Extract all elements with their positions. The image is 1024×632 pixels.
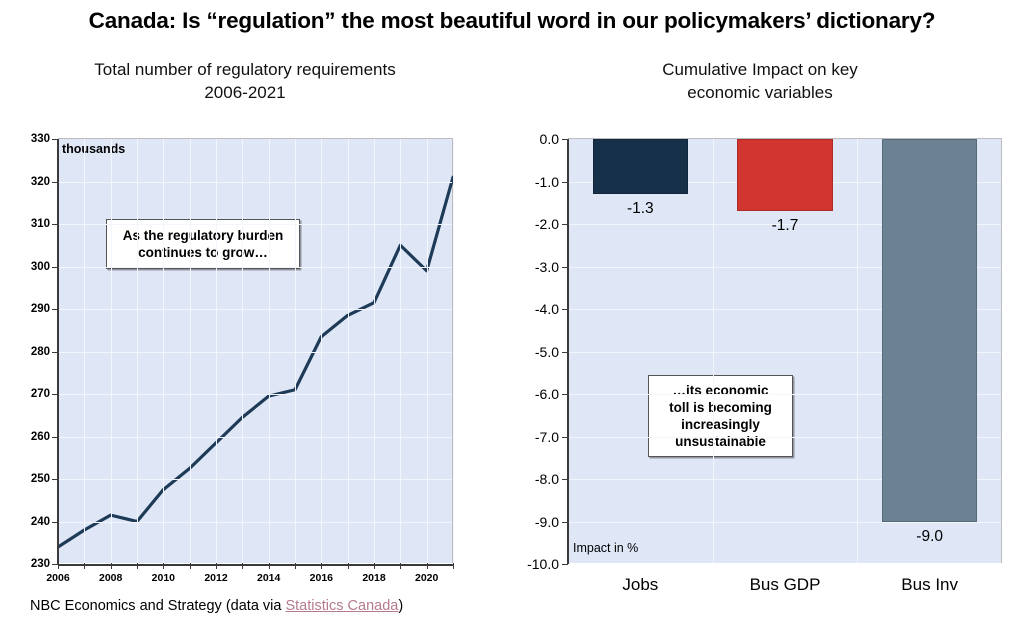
gridline-vertical — [84, 139, 85, 563]
y-axis-tick — [562, 564, 568, 565]
y-axis-tick-label: -3.0 — [535, 259, 559, 275]
y-axis-tick-label: 310 — [31, 218, 50, 230]
gridline-horizontal — [58, 309, 452, 310]
y-axis-tick-label: -1.0 — [535, 174, 559, 190]
y-axis-tick-label: 270 — [31, 388, 50, 400]
gridline-horizontal — [58, 437, 452, 438]
y-axis-tick-label: -2.0 — [535, 216, 559, 232]
bar-bus-inv[interactable] — [882, 139, 977, 522]
bar-jobs[interactable] — [593, 139, 688, 194]
y-axis-tick-label: 240 — [31, 516, 50, 528]
gridline-horizontal — [58, 352, 452, 353]
gridline-horizontal — [58, 522, 452, 523]
y-axis-tick-label: 260 — [31, 431, 50, 443]
gridline-vertical — [427, 139, 428, 563]
y-axis-tick-label: 0.0 — [540, 131, 559, 147]
x-axis-tick-label: 2018 — [362, 572, 385, 584]
category-label-bus-gdp: Bus GDP — [750, 575, 821, 595]
category-label-jobs: Jobs — [622, 575, 658, 595]
gridline-vertical — [269, 139, 270, 563]
y-axis-tick-label: 300 — [31, 261, 50, 273]
y-axis-tick-label: 230 — [31, 558, 50, 570]
gridline-horizontal — [58, 224, 452, 225]
gridline-horizontal — [58, 479, 452, 480]
gridline-vertical — [111, 139, 112, 563]
gridline-horizontal — [568, 522, 1001, 523]
right-chart-title: Cumulative Impact on key economic variab… — [500, 58, 1020, 104]
gridline-vertical — [857, 139, 858, 563]
footer-suffix: ) — [398, 598, 403, 614]
right-chart-panel: Cumulative Impact on key economic variab… — [500, 58, 1020, 104]
x-axis-tick-label: 2010 — [152, 572, 175, 584]
footer-prefix: NBC Economics and Strategy (data via — [30, 598, 285, 614]
gridline-vertical — [374, 139, 375, 563]
gridline-vertical — [453, 139, 454, 563]
left-callout-box: As the regulatory burden continues to gr… — [106, 219, 300, 269]
gridline-vertical — [713, 139, 714, 563]
line-chart-plot-area: thousands As the regulatory burden conti… — [58, 138, 453, 563]
y-axis-tick-label: -5.0 — [535, 344, 559, 360]
y-axis-tick-label: 250 — [31, 473, 50, 485]
bar-bus-gdp[interactable] — [737, 139, 832, 211]
y-axis-line — [567, 139, 569, 564]
source-footer: NBC Economics and Strategy (data via Sta… — [30, 598, 403, 614]
y-axis-tick-label: 280 — [31, 346, 50, 358]
bar-value-label: -9.0 — [916, 528, 943, 546]
y-axis-tick-label: 320 — [31, 176, 50, 188]
left-chart-panel: Total number of regulatory requirements … — [10, 58, 480, 104]
y-axis-tick-label: 330 — [31, 133, 50, 145]
y-axis-tick-label: -6.0 — [535, 386, 559, 402]
y-axis-tick-label: -8.0 — [535, 471, 559, 487]
right-unit-label: Impact in % — [573, 541, 638, 555]
category-label-bus-inv: Bus Inv — [901, 575, 958, 595]
gridline-vertical — [137, 139, 138, 563]
bar-value-label: -1.3 — [627, 200, 654, 218]
statistics-canada-link[interactable]: Statistics Canada — [285, 598, 398, 614]
gridline-vertical — [242, 139, 243, 563]
bar-chart-plot-area: Impact in % …its economic toll is becomi… — [568, 138, 1002, 563]
right-callout-box: …its economic toll is becoming increasin… — [648, 375, 793, 457]
gridline-horizontal — [58, 394, 452, 395]
y-axis-tick-label: 290 — [31, 303, 50, 315]
x-axis-tick-label: 2012 — [204, 572, 227, 584]
x-axis-tick-label: 2016 — [310, 572, 333, 584]
x-axis-line — [58, 564, 453, 566]
y-axis-tick-label: -10.0 — [527, 556, 559, 572]
gridline-vertical — [321, 139, 322, 563]
page-title: Canada: Is “regulation” the most beautif… — [0, 8, 1024, 34]
x-axis-tick — [453, 563, 454, 569]
bar-value-label: -1.7 — [772, 217, 799, 235]
gridline-horizontal — [58, 267, 452, 268]
gridline-vertical — [348, 139, 349, 563]
y-axis-tick-label: -9.0 — [535, 514, 559, 530]
gridline-vertical — [190, 139, 191, 563]
x-axis-tick-label: 2008 — [99, 572, 122, 584]
y-axis-line — [57, 139, 59, 564]
x-axis-tick-label: 2006 — [46, 572, 69, 584]
gridline-vertical — [216, 139, 217, 563]
y-axis-tick-label: -4.0 — [535, 301, 559, 317]
left-chart-title: Total number of regulatory requirements … — [10, 58, 480, 104]
x-axis-tick-label: 2020 — [415, 572, 438, 584]
gridline-horizontal — [58, 182, 452, 183]
x-axis-tick-label: 2014 — [257, 572, 280, 584]
gridline-vertical — [400, 139, 401, 563]
gridline-vertical — [295, 139, 296, 563]
y-axis-tick-label: -7.0 — [535, 429, 559, 445]
gridline-vertical — [163, 139, 164, 563]
